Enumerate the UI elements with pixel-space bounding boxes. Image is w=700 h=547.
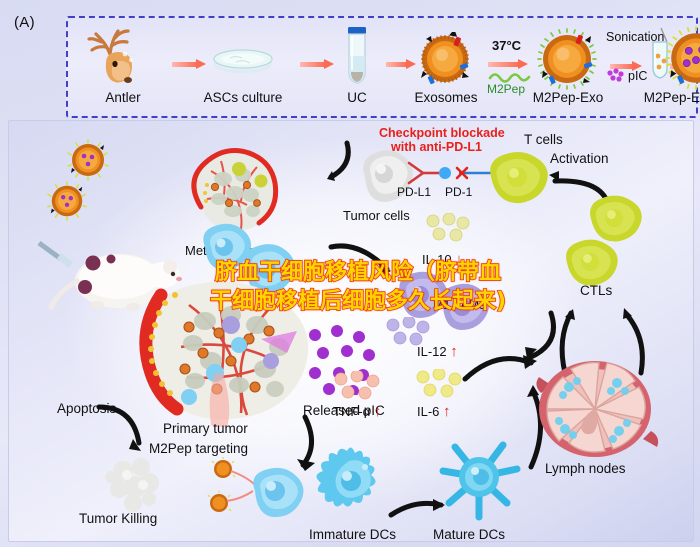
free-exosome-icon-1 xyxy=(67,139,109,181)
m1-tams-label: M1 TAMs xyxy=(433,298,485,312)
panel-b-container: Metastatic tumor Tumor cells Checkpoint … xyxy=(8,120,694,542)
tnf-alpha-label: TNF-α ↑ xyxy=(333,403,381,420)
ctl-icon-2 xyxy=(559,237,623,289)
panel-a-step-label-antler: Antler xyxy=(76,90,170,105)
panel-a-step-label-m2pepexo: M2Pep-Exo xyxy=(518,90,618,105)
immature-dc-icon xyxy=(307,443,393,521)
panel-a-step-label-ascs: ASCs culture xyxy=(188,90,298,105)
panel-a-step-label-uc: UC xyxy=(324,90,390,105)
tnf-alpha-name: TNF-α xyxy=(333,404,370,419)
activation-label: Activation xyxy=(550,151,609,166)
immature-dcs-label: Immature DCs xyxy=(309,527,396,542)
process-arrow-4 xyxy=(488,60,528,69)
pic-cluster-icon xyxy=(606,68,626,84)
pd-1-label: PD-1 xyxy=(445,185,472,199)
lymph-nodes-icon xyxy=(529,353,665,469)
petri-dish-icon xyxy=(210,46,276,78)
primary-tumor-label: Primary tumor xyxy=(163,421,248,436)
temperature-label: 37°C xyxy=(492,38,521,53)
lymph-nodes-label: Lymph nodes xyxy=(545,461,626,476)
apoptosis-label: Apoptosis xyxy=(57,401,116,416)
process-arrow-2 xyxy=(300,60,334,69)
il-6-label: IL-6 ↑ xyxy=(417,403,451,420)
il-6-dots-icon xyxy=(413,369,467,403)
tumor-killing-icon xyxy=(99,451,169,515)
panel-a-letter: (A) xyxy=(14,14,35,31)
checkpoint-blockade-line1: Checkpoint blockade xyxy=(379,126,505,140)
il-10-name: IL-10 xyxy=(422,252,452,267)
centrifuge-tube-icon xyxy=(342,26,372,86)
il-12-label: IL-12 ↑ xyxy=(417,343,458,360)
m2pep-exosome-icon xyxy=(536,28,598,90)
il-6-trend: ↑ xyxy=(443,403,451,420)
tumor-cells-label: Tumor cells xyxy=(343,208,410,223)
il-10-label: IL-10 ↓ xyxy=(422,251,463,268)
tnf-alpha-trend: ↑ xyxy=(374,403,382,420)
exosome-icon xyxy=(418,32,472,86)
free-exosome-icon-2 xyxy=(47,181,87,221)
pd-l1-label: PD-L1 xyxy=(397,185,431,199)
il-6-name: IL-6 xyxy=(417,404,439,419)
panel-a-step-label-exosomes: Exosomes xyxy=(404,90,488,105)
il-10-dots-icon xyxy=(423,213,473,247)
process-arrow-1 xyxy=(172,60,206,69)
il-12-name: IL-12 xyxy=(417,344,447,359)
deer-antler-icon xyxy=(84,24,162,86)
process-arrow-3 xyxy=(386,60,416,69)
panel-a-step-label-m2pepexopic: M2Pep-Exo(pIC) xyxy=(624,90,700,105)
il-12-trend: ↑ xyxy=(450,343,458,360)
t-cells-label: T cells xyxy=(524,132,563,147)
figure-root: (A) Antler ASCs culture xyxy=(0,0,700,547)
ctls-label: CTLs xyxy=(580,283,612,298)
panel-a-container: Antler ASCs culture UC xyxy=(66,16,698,118)
checkpoint-blockade-line2: with anti-PD-L1 xyxy=(391,140,482,154)
mature-dcs-label: Mature DCs xyxy=(433,527,505,542)
tumor-killing-label: Tumor Killing xyxy=(79,511,157,526)
tnf-alpha-dots-icon xyxy=(331,371,385,405)
m2pep-exosome-pic-icon xyxy=(664,26,700,90)
pic-label: pIC xyxy=(628,69,647,83)
arrow-metastasis xyxy=(285,137,355,189)
il-10-trend: ↓ xyxy=(455,251,463,268)
